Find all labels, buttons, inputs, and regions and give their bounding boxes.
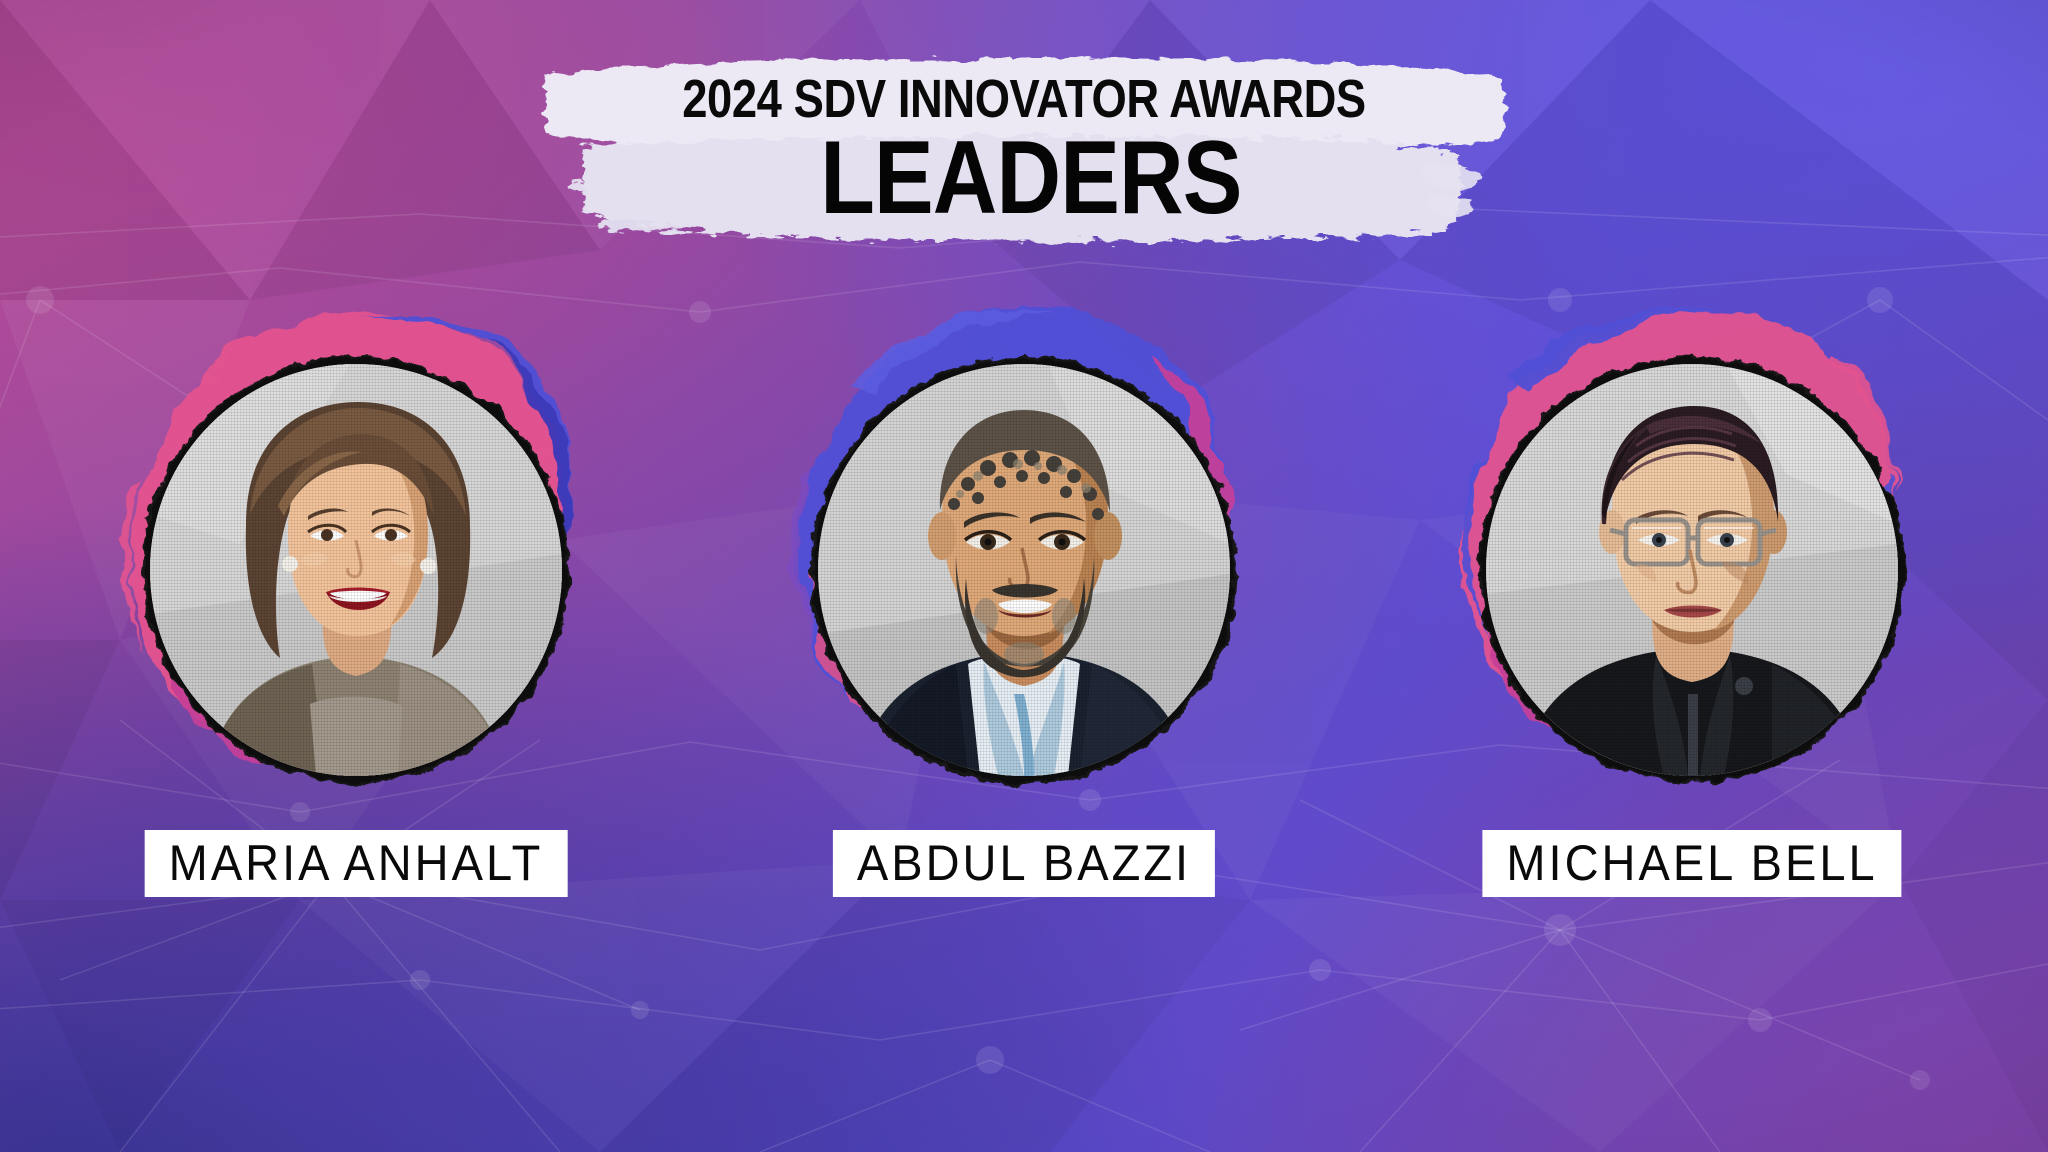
- honoree-name-2: ABDUL BAZZI: [857, 838, 1191, 888]
- honoree-row: MARIA ANHALT: [0, 272, 2048, 912]
- portrait-abdul-bazzi: [818, 364, 1230, 776]
- honoree-card-michael-bell[interactable]: MICHAEL BELL: [1392, 272, 1992, 912]
- honoree-name-tag-1: MARIA ANHALT: [145, 830, 568, 897]
- honoree-card-maria-anhalt[interactable]: MARIA ANHALT: [56, 272, 656, 912]
- honoree-name-1: MARIA ANHALT: [169, 838, 544, 888]
- honoree-name-tag-3: MICHAEL BELL: [1482, 830, 1901, 897]
- honoree-card-abdul-bazzi[interactable]: ABDUL BAZZI: [724, 272, 1324, 912]
- honoree-name-tag-2: ABDUL BAZZI: [833, 830, 1215, 897]
- honoree-name-3: MICHAEL BELL: [1506, 838, 1877, 888]
- portrait-michael-bell: [1486, 364, 1898, 776]
- awards-poster: 2024 SDV INNOVATOR AWARDS LEADERS: [0, 0, 2048, 1152]
- portrait-maria-anhalt: [150, 364, 562, 776]
